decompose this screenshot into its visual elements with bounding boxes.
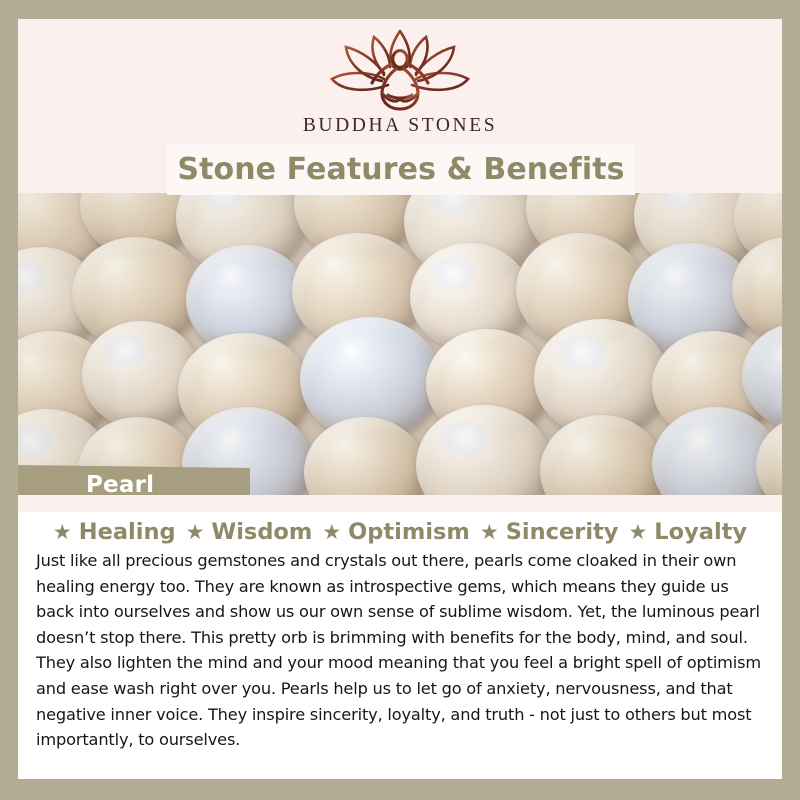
title-banner: Stone Features & Benefits: [167, 144, 635, 195]
brand-name: BUDDHA STONES: [303, 115, 497, 137]
benefit-item-wisdom: ★ Wisdom: [176, 519, 313, 545]
benefit-item-loyalty: ★ Loyalty: [618, 519, 747, 545]
star-icon: ★: [480, 522, 499, 543]
stone-name: Pearl: [86, 472, 154, 495]
benefit-label: Healing: [79, 519, 176, 545]
benefit-item-healing: ★ Healing: [53, 519, 176, 545]
benefit-label: Wisdom: [211, 519, 312, 545]
hero-image: Pearl: [18, 193, 782, 495]
benefit-label: Sincerity: [506, 519, 619, 545]
benefit-item-sincerity: ★ Sincerity: [470, 519, 619, 545]
pearl-photo: [18, 193, 782, 495]
lotus-meditation-icon: [326, 29, 474, 113]
benefits-list: ★ Healing ★ Wisdom ★ Optimism ★ Sincerit…: [18, 512, 782, 547]
benefit-label: Loyalty: [654, 519, 747, 545]
star-icon: ★: [322, 522, 341, 543]
star-icon: ★: [53, 522, 72, 543]
separator-strip: [18, 495, 782, 512]
content-card: BUDDHA STONES: [18, 19, 782, 779]
page-title: Stone Features & Benefits: [177, 152, 624, 187]
star-icon: ★: [628, 522, 647, 543]
stone-name-band: Pearl: [18, 465, 250, 495]
benefit-label: Optimism: [348, 519, 470, 545]
infographic-page: BUDDHA STONES: [0, 0, 800, 800]
star-icon: ★: [186, 522, 205, 543]
benefit-item-optimism: ★ Optimism: [312, 519, 470, 545]
description-panel: ★ Healing ★ Wisdom ★ Optimism ★ Sincerit…: [18, 512, 782, 779]
description-text: Just like all precious gemstones and cry…: [36, 548, 764, 753]
